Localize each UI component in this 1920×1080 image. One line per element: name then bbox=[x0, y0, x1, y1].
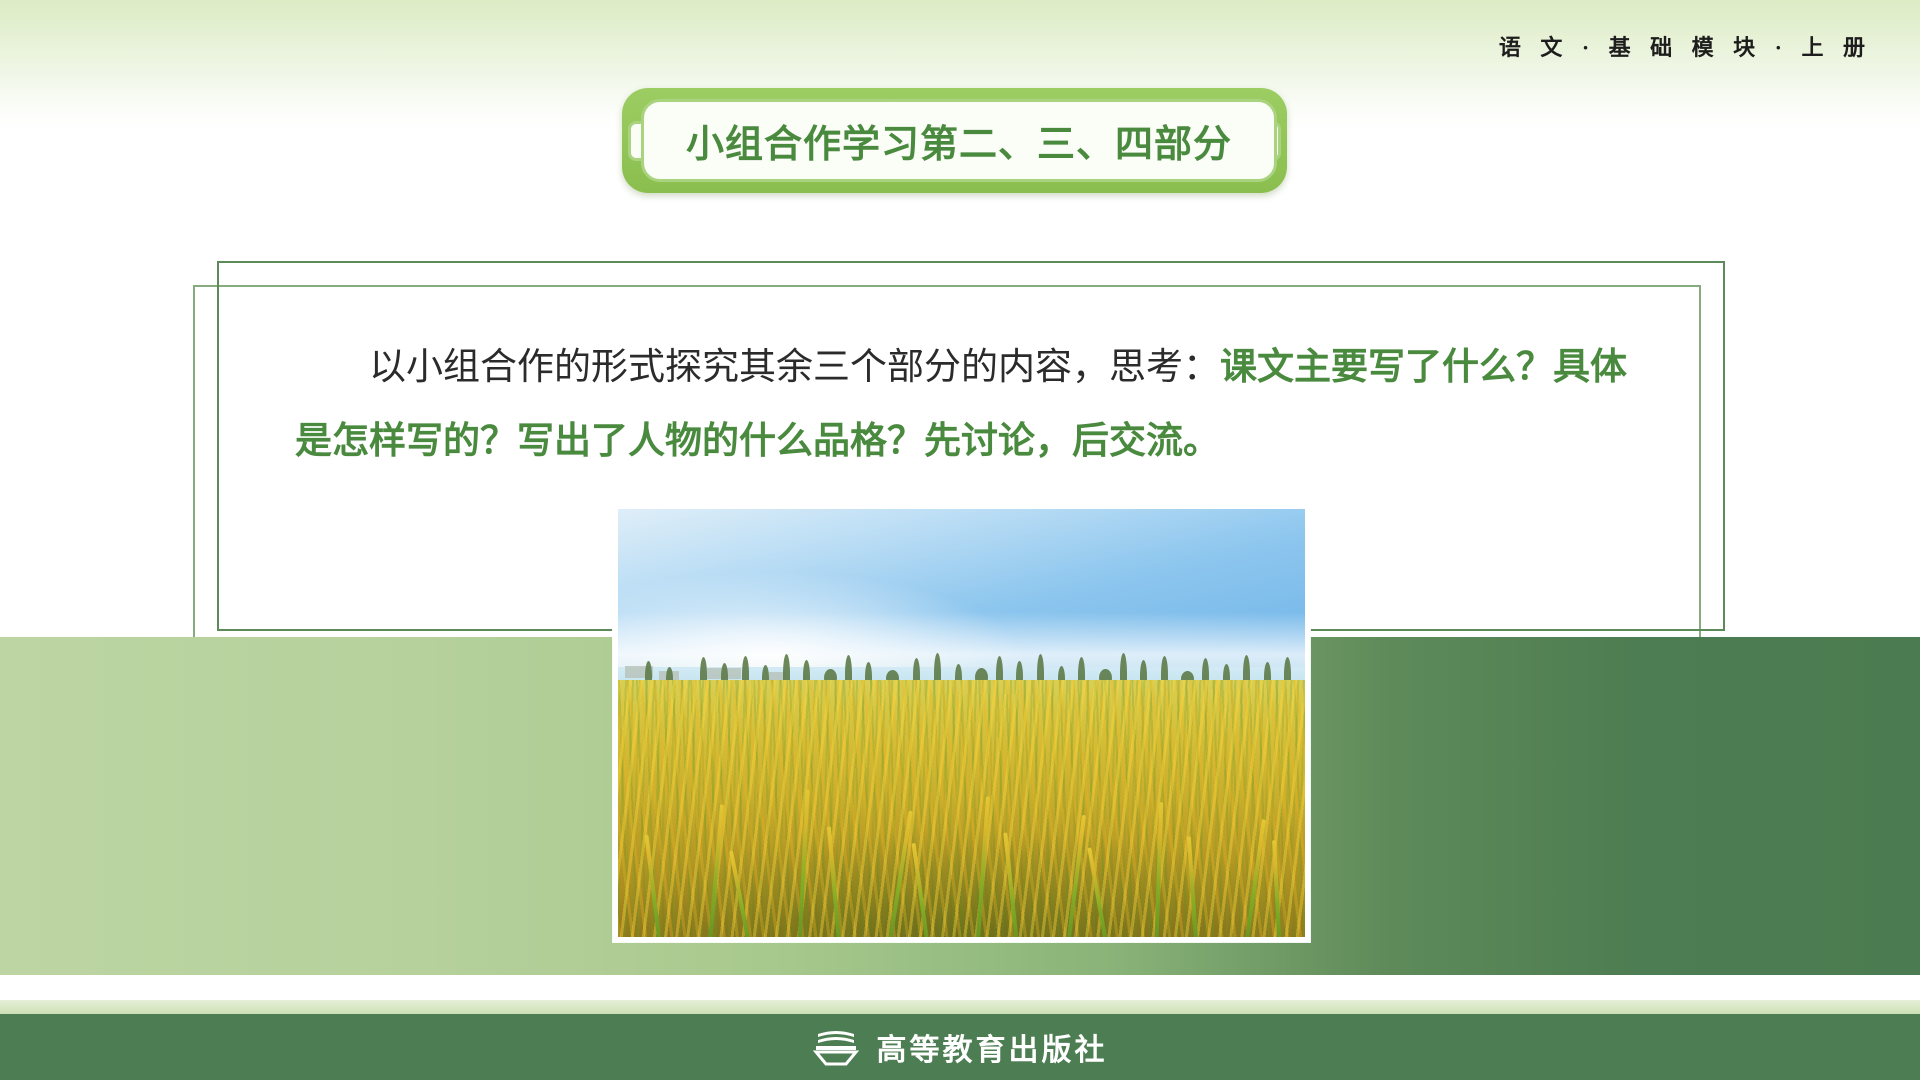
body-lead-text: 以小组合作的形式探究其余三个部分的内容，思考： bbox=[369, 345, 1220, 388]
header-course-label: 语 文 · 基 础 模 块 · 上 册 bbox=[1499, 30, 1872, 62]
footer-light-strip bbox=[0, 1000, 1920, 1014]
body-paragraph: 以小组合作的形式探究其余三个部分的内容，思考：课文主要写了什么？具体是怎样写的？… bbox=[295, 330, 1650, 478]
footer-bar: 高等教育出版社 bbox=[0, 1014, 1920, 1080]
rice-field-photo bbox=[613, 504, 1310, 942]
photo-canvas bbox=[618, 509, 1305, 937]
book-logo-icon bbox=[813, 1028, 859, 1066]
footer-publisher-name: 高等教育出版社 bbox=[877, 1025, 1108, 1069]
title-banner-inner: 小组合作学习第二、三、四部分 bbox=[641, 99, 1277, 182]
slide-title: 小组合作学习第二、三、四部分 bbox=[686, 113, 1232, 168]
slide-root: 语 文 · 基 础 模 块 · 上 册 小组合作学习第二、三、四部分 以小组合作… bbox=[0, 0, 1920, 1080]
title-banner: 小组合作学习第二、三、四部分 bbox=[622, 88, 1287, 193]
